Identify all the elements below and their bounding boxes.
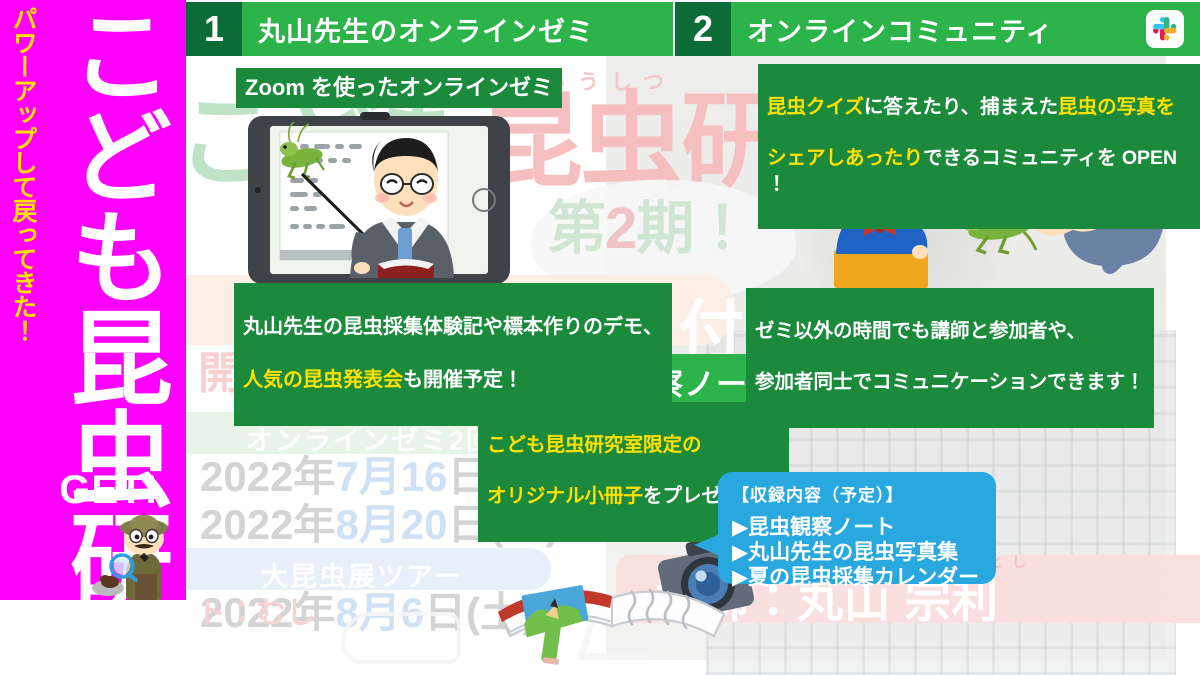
background-season-a: 第 — [548, 196, 605, 261]
section-1-title: 丸山先生のオンラインゼミ — [258, 10, 594, 49]
background-date-2-hl: 8月20 — [335, 501, 447, 548]
caption-section-2-bottom: ゼミ以外の時間でも講師と参加者や、 参加者同士でコミュニケーションできます！ — [746, 288, 1154, 428]
content-area: けんきゅうしつ こども昆虫研究室 第2期！ ノート付き 開催日 オンラインゼミ2… — [186, 0, 1200, 675]
list-item: ▶昆虫観察ノート — [732, 516, 982, 541]
section-1-number: 1 — [186, 2, 242, 56]
caption-section-1-line1: 丸山先生の昆虫採集体験記や標本作りのデモ、 — [243, 314, 663, 340]
background-credit: ト：むし — [196, 588, 316, 632]
caption-section-2-top-line2: シェアしあったりできるコミュニティを OPEN ！ — [767, 146, 1191, 197]
background-date-1-hl: 7月16 — [335, 453, 447, 500]
explorer-with-magnifier-icon — [88, 508, 184, 600]
caption-section-3-line1: こども昆虫研究室限定の — [487, 433, 780, 459]
left-banner: パワーアップして戻ってきた！ こども昆虫研究室 GET! 第２期 — [0, 0, 186, 600]
caption-section-2-top: 昆虫クイズに答えたり、捕まえた昆虫の写真を シェアしあったりできるコミュニティを… — [758, 64, 1200, 229]
background-date-2-pre: 2022年 — [200, 501, 335, 548]
background-season-text: 第2期！ — [548, 200, 750, 258]
teacher-illustration — [326, 128, 486, 278]
background-season-b: 2 — [605, 196, 636, 261]
contents-info-list: ▶昆虫観察ノート ▶丸山先生の昆虫写真集 ▶夏の昆虫採集カレンダー — [732, 516, 982, 590]
background-shoe-outline — [341, 612, 461, 664]
c2-hl-a: 昆虫クイズ — [767, 96, 864, 118]
c2-hl-b: 昆虫の写真を — [1058, 96, 1175, 118]
caption-section-1-line2-hl: 人気の昆虫発表会 — [243, 369, 403, 391]
section-2-number: 2 — [675, 2, 731, 56]
caption-section-1-line2: 人気の昆虫発表会も開催予定！ — [243, 367, 663, 393]
caption-section-3-line2-hl: オリジナル小冊子 — [487, 485, 643, 507]
get-label: GET! — [44, 468, 174, 513]
list-item: ▶夏の昆虫採集カレンダー — [732, 566, 982, 591]
caption-section-1-line2-rest: も開催予定！ — [403, 369, 523, 391]
section-2-header: 2 オンラインコミュニティ — [675, 2, 1200, 56]
slack-logo-icon — [1146, 10, 1184, 48]
caption-section-2-bottom-line2: 参加者同士でコミュニケーションできます！ — [755, 370, 1145, 396]
caption-zoom: Zoom を使ったオンラインゼミ — [236, 68, 562, 108]
background-date-1-pre: 2022年 — [200, 453, 335, 500]
c2-hl-c: シェアしあったり — [767, 147, 923, 169]
contents-info-title: 【収録内容（予定）】 — [732, 481, 982, 506]
powerup-tagline: パワーアップして戻ってきた！ — [2, 6, 42, 336]
c2-txt-a: に答えたり、捕まえた — [864, 96, 1058, 118]
section-2-title: オンラインコミュニティ — [747, 10, 1053, 49]
list-item: ▶丸山先生の昆虫写真集 — [732, 541, 982, 566]
contents-info-box: 【収録内容（予定）】 ▶昆虫観察ノート ▶丸山先生の昆虫写真集 ▶夏の昆虫採集カ… — [718, 472, 996, 584]
section-1-header: 1 丸山先生のオンラインゼミ — [186, 2, 673, 56]
background-season-c: 期！ — [636, 196, 750, 261]
poster-root: パワーアップして戻ってきた！ こども昆虫研究室 GET! 第２期 — [0, 0, 1200, 675]
caption-section-2-bottom-line1: ゼミ以外の時間でも講師と参加者や、 — [755, 319, 1145, 345]
season-badge-label: 第２期 — [8, 598, 179, 600]
caption-section-2-top-line1: 昆虫クイズに答えたり、捕まえた昆虫の写真を — [767, 95, 1191, 121]
main-title-vertical: こども昆虫研究室 — [46, 2, 171, 472]
